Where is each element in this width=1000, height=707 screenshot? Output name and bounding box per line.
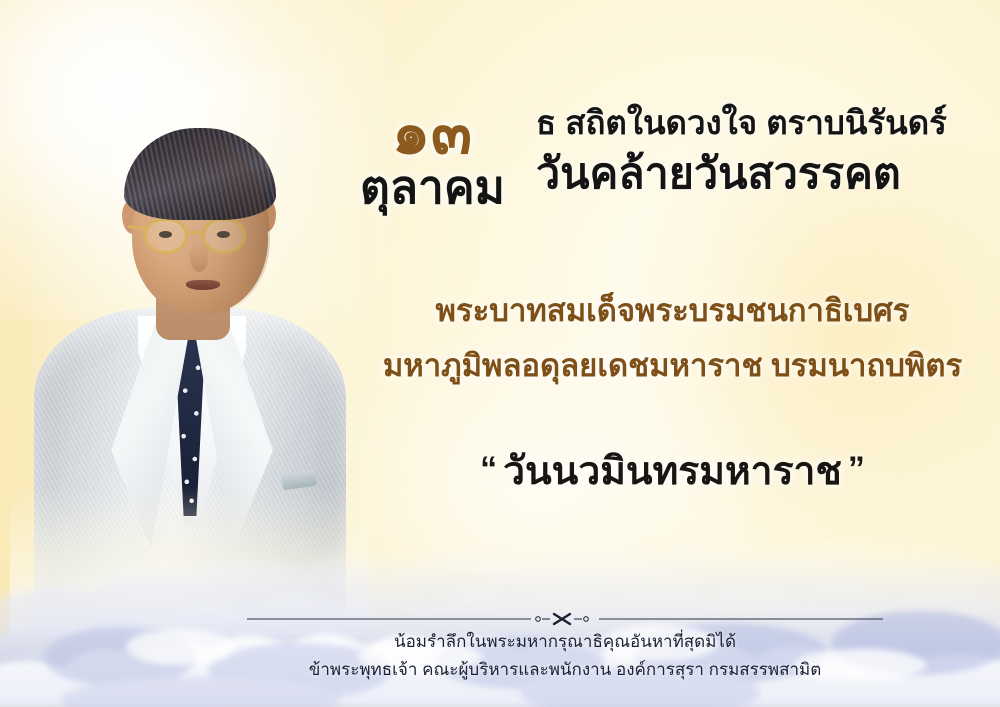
motto-close-quote: ”: [842, 450, 871, 488]
date-day-numeral: ๑๓: [345, 104, 520, 161]
motto-text: วันนวมินทรมหาราช: [503, 450, 842, 493]
date-month-label: ตุลาคม: [345, 163, 520, 211]
memorial-poster: ๑๓ ตุลาคม ธ สถิตในดวงใจ ตราบนิรันดร์ วัน…: [0, 0, 1000, 707]
date-column: ๑๓ ตุลาคม: [345, 104, 520, 211]
ornament-divider-icon: [245, 612, 885, 626]
tagline-line-1: ธ สถิตในดวงใจ ตราบนิรันดร์: [536, 104, 1000, 143]
tagline-column: ธ สถิตในดวงใจ ตราบนิรันดร์ วันคล้ายวันสว…: [520, 104, 1000, 201]
motto-line: “วันนวมินทรมหาราช”: [345, 440, 1000, 502]
portrait-king-bhumibol-adulyadej: [10, 70, 370, 630]
royal-title-line-1: พระบาทสมเด็จพระบรมชนกาธิเบศร: [345, 292, 1000, 331]
tagline-line-2: วันคล้ายวันสวรรคต: [536, 149, 1000, 201]
royal-title: พระบาทสมเด็จพระบรมชนกาธิเบศร มหาภูมิพลอด…: [345, 292, 1000, 386]
motto-open-quote: “: [474, 450, 503, 488]
footer-line-2: ข้าพระพุทธเจ้า คณะผู้บริหารและพนักงาน อง…: [245, 658, 885, 683]
date-and-tagline-row: ๑๓ ตุลาคม ธ สถิตในดวงใจ ตราบนิรันดร์ วัน…: [345, 104, 1000, 211]
royal-title-line-2: มหาภูมิพลอดุลยเดชมหาราช บรมนาถบพิตร: [345, 347, 1000, 386]
poster-text-block: ๑๓ ตุลาคม ธ สถิตในดวงใจ ตราบนิรันดร์ วัน…: [345, 0, 1000, 707]
footer-block: น้อมรำลึกในพระมหากรุณาธิคุณอันหาที่สุดมิ…: [245, 612, 885, 682]
footer-line-1: น้อมรำลึกในพระมหากรุณาธิคุณอันหาที่สุดมิ…: [245, 630, 885, 655]
